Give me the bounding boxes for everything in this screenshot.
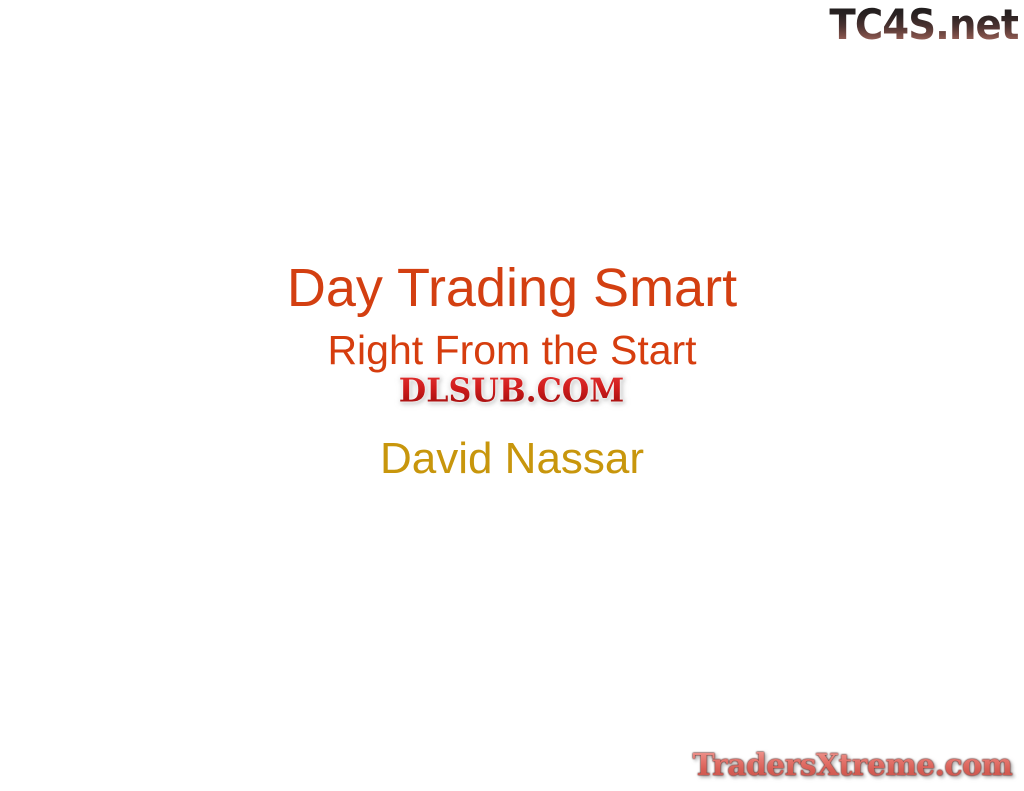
page-subtitle: Right From the Start xyxy=(0,326,1024,374)
author-name: David Nassar xyxy=(0,434,1024,484)
dlsub-watermark: DLSUB.COM xyxy=(0,374,1024,408)
tradersxtreme-watermark: TradersXtreme.com xyxy=(691,749,1014,783)
tc4s-logo: TC4S.net xyxy=(829,2,1018,48)
author-block: David Nassar xyxy=(0,434,1024,484)
tradersxtreme-watermark-text: TradersXtreme.com xyxy=(693,749,1013,783)
dlsub-watermark-text: DLSUB.COM xyxy=(399,373,625,409)
title-block: Day Trading Smart Right From the Start xyxy=(0,258,1024,374)
presentation-slide: TC4S.net Day Trading Smart Right From th… xyxy=(0,0,1024,791)
page-title: Day Trading Smart xyxy=(0,258,1024,318)
